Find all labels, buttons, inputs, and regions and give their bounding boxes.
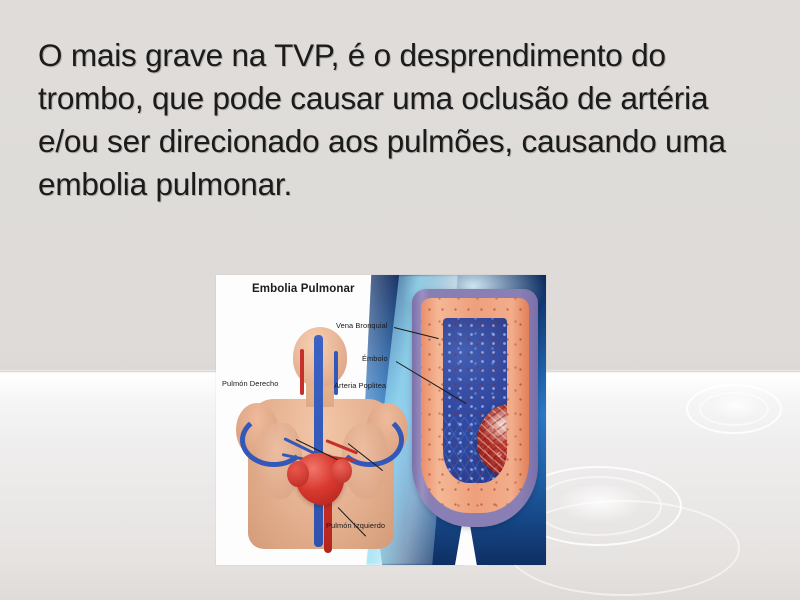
ripple-ring [710,395,762,419]
embolia-pulmonar-illustration: Embolia Pulmonar [216,275,546,565]
label-pulmon-izquierdo: Pulmón Izquierdo [326,521,385,530]
label-vena-bronquial: Vena Bronquial [336,321,388,330]
vein-lumen [443,318,507,483]
vena-cava [314,335,323,547]
slide-body-text: O mais grave na TVP, é o desprendimento … [38,34,760,206]
ripple-ring [686,384,782,434]
slide-canvas: O mais grave na TVP, é o desprendimento … [0,0,800,600]
vein-cross-section [412,289,538,527]
ripple-ring [534,476,662,536]
ripple-ring [699,392,769,426]
illustration-title: Embolia Pulmonar [252,283,355,295]
vein-wall [421,298,529,513]
label-pulmon-derecho: Pulmón Derecho [222,379,278,388]
carotid-artery [300,349,304,395]
body-paragraph: O mais grave na TVP, é o desprendimento … [38,34,760,206]
ripple-ring [558,485,642,523]
label-arteria-poplitea: Arteria Poplitea [334,381,386,390]
label-embolo: Émbolo [362,354,388,363]
embolus-thrombus [477,404,507,478]
